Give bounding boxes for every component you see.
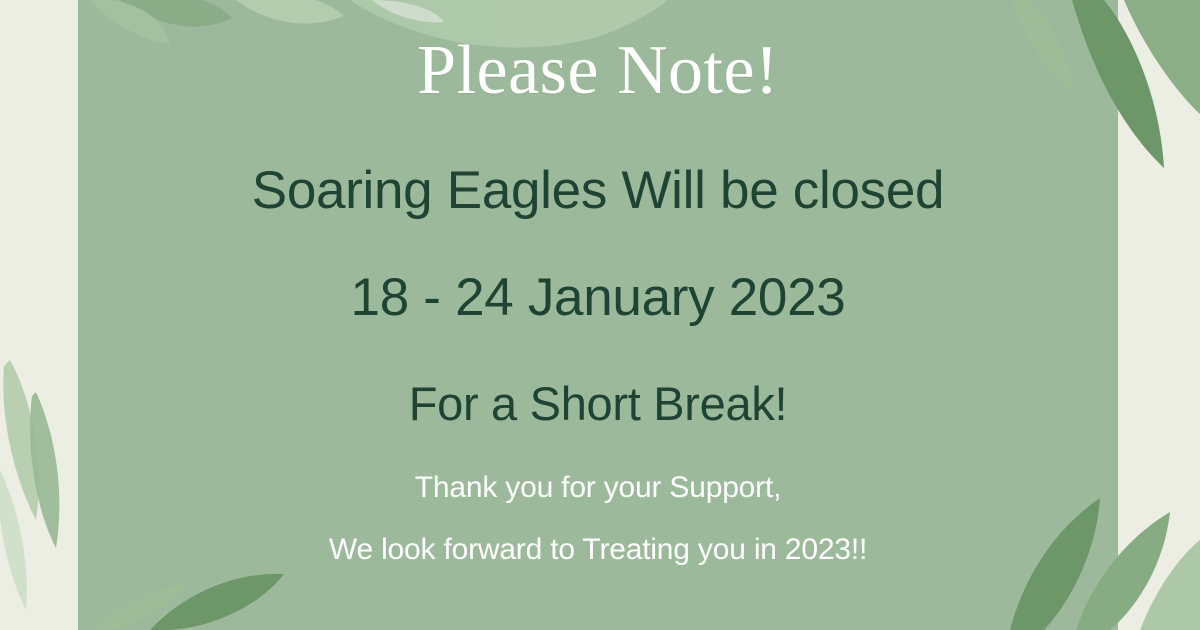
poster-content: Please Note! Soaring Eagles Will be clos… [78,0,1118,630]
poster-canvas: Please Note! Soaring Eagles Will be clos… [0,0,1200,630]
closure-reason: For a Short Break! [409,376,788,431]
thanks-line-1: Thank you for your Support, [415,471,781,505]
headline: Please Note! [417,36,779,106]
closure-line-1: Soaring Eagles Will be closed [252,160,944,221]
leaf-left-edge [0,360,59,610]
closure-dates: 18 - 24 January 2023 [351,267,846,328]
thanks-line-2: We look forward to Treating you in 2023!… [329,533,867,567]
